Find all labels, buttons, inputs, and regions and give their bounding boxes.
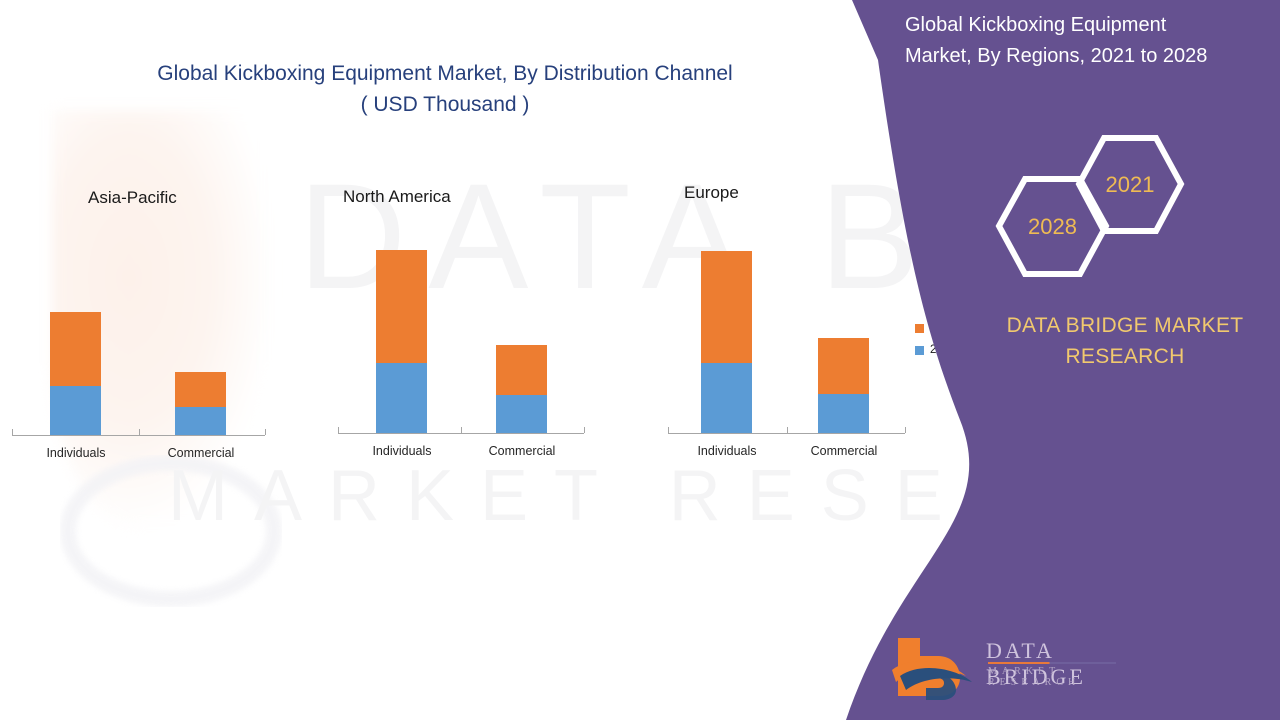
legend-label: 2028 bbox=[930, 322, 956, 334]
bar-segment-2020 bbox=[701, 363, 752, 433]
chart-legend: 20282020 bbox=[915, 322, 956, 366]
bar-segment-2028 bbox=[376, 250, 427, 363]
dbmr-logo-mark bbox=[890, 632, 982, 700]
right-panel-title-line1: Global Kickboxing Equipment bbox=[905, 10, 1275, 41]
category-label-individuals: Individuals bbox=[342, 444, 462, 458]
bar-segment-2020 bbox=[376, 363, 427, 433]
x-axis-tick bbox=[787, 427, 788, 433]
bar-commercial bbox=[496, 345, 547, 433]
hexagon-front-label: 2021 bbox=[1106, 172, 1155, 198]
bar-segment-2028 bbox=[818, 338, 869, 394]
chart-title-line2: ( USD Thousand ) bbox=[60, 89, 830, 120]
legend-item-2020[interactable]: 2020 bbox=[915, 344, 956, 356]
chart-title-line1: Global Kickboxing Equipment Market, By D… bbox=[60, 58, 830, 89]
x-axis-line bbox=[12, 435, 265, 436]
legend-item-2028[interactable]: 2028 bbox=[915, 322, 956, 334]
bar-segment-2020 bbox=[50, 386, 101, 435]
bar-individuals bbox=[701, 251, 752, 433]
bar-segment-2028 bbox=[50, 312, 101, 386]
bar-individuals bbox=[50, 312, 101, 435]
category-label-individuals: Individuals bbox=[667, 444, 787, 458]
slide-canvas: DATA BR MARKET RESEARCH Global Kickboxin… bbox=[0, 0, 1280, 720]
x-axis-tick bbox=[12, 429, 13, 435]
bar-commercial bbox=[818, 338, 869, 433]
bar-segment-2020 bbox=[175, 407, 226, 435]
dbmr-logo-divider bbox=[988, 662, 1116, 664]
x-axis-tick bbox=[139, 429, 140, 435]
category-label-commercial: Commercial bbox=[462, 444, 582, 458]
right-panel-title-line2: Market, By Regions, 2021 to 2028 bbox=[905, 41, 1275, 72]
bar-commercial bbox=[175, 372, 226, 435]
x-axis-tick bbox=[338, 427, 339, 433]
brand-line1: DATA BRIDGE MARKET bbox=[960, 310, 1280, 341]
right-panel-title: Global Kickboxing Equipment Market, By R… bbox=[905, 10, 1275, 72]
dbmr-logo: DATA BRIDGE MARKET RESEARCH bbox=[890, 632, 1120, 700]
bar-segment-2028 bbox=[175, 372, 226, 407]
hexagon-badge-2021: 2021 bbox=[1075, 133, 1185, 236]
bar-segment-2028 bbox=[701, 251, 752, 363]
x-axis-tick bbox=[668, 427, 669, 433]
bar-segment-2020 bbox=[818, 394, 869, 433]
brand-line2: RESEARCH bbox=[960, 341, 1280, 372]
x-axis-tick bbox=[461, 427, 462, 433]
panel-title-north-america: North America bbox=[343, 187, 451, 207]
x-axis-line bbox=[338, 433, 584, 434]
chart-title: Global Kickboxing Equipment Market, By D… bbox=[60, 58, 830, 120]
x-axis-tick bbox=[584, 427, 585, 433]
category-label-commercial: Commercial bbox=[784, 444, 904, 458]
dbmr-logo-subtitle: MARKET RESEARCH bbox=[988, 666, 1120, 688]
watermark-text-marketresearch: MARKET RESEARCH bbox=[168, 455, 1277, 537]
legend-label: 2020 bbox=[930, 344, 956, 356]
hexagon-back-label: 2028 bbox=[1028, 214, 1077, 240]
x-axis-tick bbox=[905, 427, 906, 433]
x-axis-line bbox=[668, 433, 905, 434]
bar-segment-2020 bbox=[496, 395, 547, 433]
legend-swatch-icon bbox=[915, 324, 924, 333]
category-label-individuals: Individuals bbox=[16, 446, 136, 460]
x-axis-tick bbox=[265, 429, 266, 435]
legend-swatch-icon bbox=[915, 346, 924, 355]
panel-title-asia-pacific: Asia-Pacific bbox=[88, 188, 177, 208]
bar-segment-2028 bbox=[496, 345, 547, 395]
bar-individuals bbox=[376, 250, 427, 433]
panel-title-europe: Europe bbox=[684, 183, 739, 203]
category-label-commercial: Commercial bbox=[141, 446, 261, 460]
brand-title: DATA BRIDGE MARKET RESEARCH bbox=[960, 310, 1280, 372]
